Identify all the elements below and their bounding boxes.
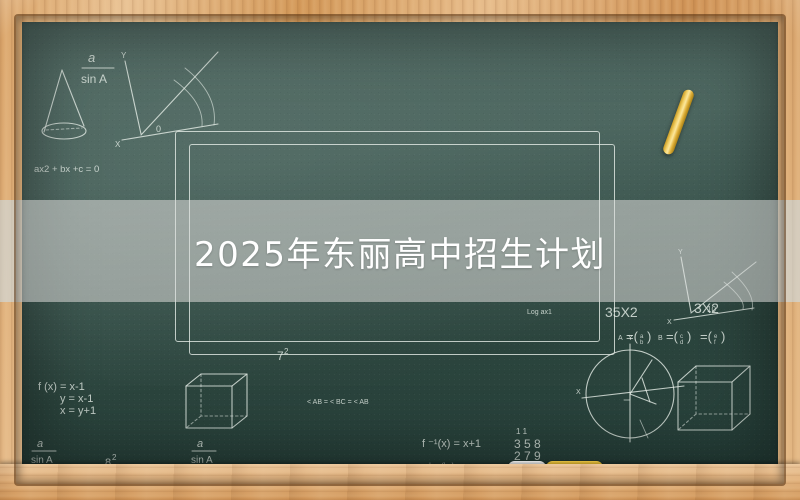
frame-inner-shadow bbox=[16, 16, 784, 484]
chalkboard-poster: a sin A Y X 0 ax2 + bx +c = 0 Y bbox=[0, 0, 800, 500]
